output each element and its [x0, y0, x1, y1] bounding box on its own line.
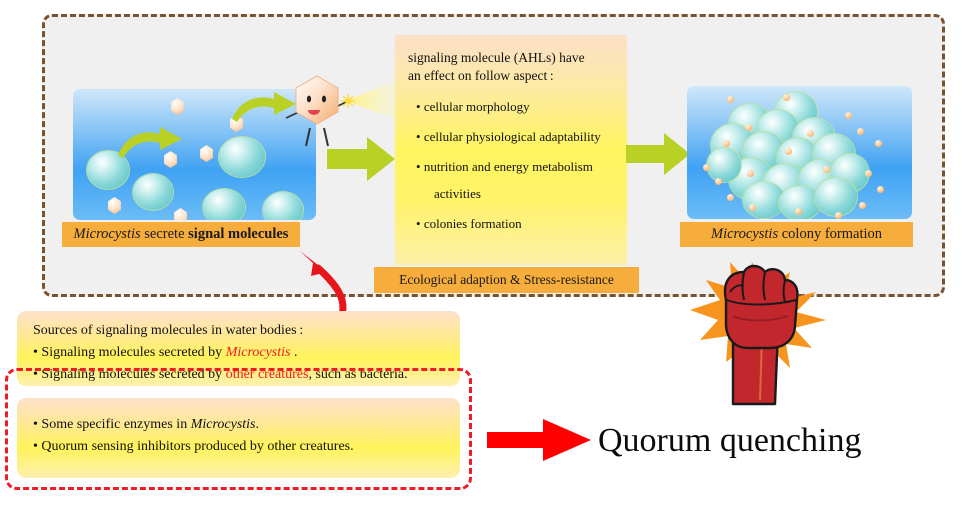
ahl-dot	[823, 166, 830, 173]
ahl-dot	[749, 204, 756, 211]
left-caption-mid: secrete	[141, 226, 189, 242]
ahl-dot	[745, 124, 752, 131]
sources-line2-suffix: .	[291, 345, 298, 360]
right-caption-rest: colony formation	[778, 226, 882, 242]
ahl-dot	[875, 140, 882, 147]
enzymes-line1-suffix: .	[256, 417, 260, 432]
ahl-effects-list: • cellular morphology • cellular physiol…	[408, 98, 614, 232]
bullet-text: colonies formation	[424, 216, 522, 231]
microcystis-cell	[203, 189, 245, 220]
right-panel-caption: Microcystis colony formation	[680, 222, 913, 247]
ahl-dot	[807, 130, 814, 137]
green-curved-arrow-right	[230, 91, 300, 125]
microcystis-colony-panel	[687, 86, 912, 219]
quorum-quenching-arrow	[487, 419, 591, 461]
ahl-heading-line2: an effect on follow aspect :	[408, 68, 554, 83]
green-arrow-to-effects	[327, 135, 397, 183]
colony-cell	[707, 148, 741, 182]
bullet-continuation: activities	[424, 185, 614, 202]
quenching-agents-box: • Some specific enzymes in Microcystis. …	[17, 398, 460, 478]
ahl-dot	[857, 128, 864, 135]
microcystis-cell	[133, 174, 173, 210]
ahl-dot	[859, 202, 866, 209]
ahl-dot	[785, 148, 792, 155]
ahl-dot	[727, 96, 734, 103]
sources-line-microcystis: • Signaling molecules secreted by Microc…	[33, 342, 444, 364]
sources-line2-highlight: Microcystis	[226, 345, 291, 360]
sources-line3-highlight: other creatures	[226, 367, 309, 382]
left-caption-italic: Microcystis	[74, 226, 141, 242]
ahl-dot	[877, 186, 884, 193]
list-item: • nutrition and energy metabolismactivit…	[416, 158, 614, 202]
enzymes-line-2: • Quorum sensing inhibitors produced by …	[33, 436, 444, 458]
list-item: • cellular physiological adaptability	[416, 128, 614, 145]
figure-canvas: Microcystis secrete signal molecules	[0, 0, 966, 530]
colony-cell	[815, 178, 857, 216]
ahl-dot	[723, 140, 730, 147]
sources-line3-suffix: , such as bacteria.	[308, 367, 407, 382]
sources-heading: Sources of signaling molecules in water …	[33, 320, 444, 342]
ahl-effects-heading: signaling molecule (AHLs) have an effect…	[408, 49, 614, 85]
signal-sources-box: Sources of signaling molecules in water …	[17, 311, 460, 386]
ahl-dot	[727, 194, 734, 201]
microcystis-cell	[263, 192, 303, 220]
green-curved-arrow-left	[116, 125, 186, 160]
ahl-dot	[747, 170, 754, 177]
bullet-text: nutrition and energy metabolism	[424, 159, 593, 174]
ahl-molecule	[199, 145, 214, 162]
bullet-text: cellular morphology	[424, 99, 530, 114]
ahl-dot	[715, 178, 722, 185]
enzymes-line1-italic: Microcystis	[191, 417, 256, 432]
ahl-dot	[783, 94, 790, 101]
list-item: • colonies formation	[416, 215, 614, 232]
left-panel-caption: Microcystis secrete signal molecules	[62, 222, 300, 247]
microcystis-cell	[219, 137, 265, 177]
ahl-dot	[835, 212, 842, 219]
right-caption-italic: Microcystis	[711, 226, 778, 242]
green-arrow-to-colony	[626, 131, 692, 177]
ecological-adaption-bar: Ecological adaption & Stress-resistance	[374, 267, 639, 293]
ahl-molecule	[107, 197, 122, 214]
ahl-dot	[795, 208, 802, 215]
left-caption-bold: signal molecules	[188, 226, 288, 242]
ahl-dot	[845, 112, 852, 119]
ahl-dot	[703, 164, 710, 171]
enzymes-line1-prefix: • Some specific enzymes in	[33, 417, 191, 432]
ahl-molecule	[170, 98, 185, 115]
sources-line3-prefix: • Signaling molecules secreted by	[33, 367, 226, 382]
ahl-dot	[865, 170, 872, 177]
ahl-heading-line1: signaling molecule (AHLs) have	[408, 50, 585, 65]
sources-line-other-creatures: • Signaling molecules secreted by other …	[33, 364, 444, 386]
list-item: • cellular morphology	[416, 98, 614, 115]
bullet-text: cellular physiological adaptability	[424, 129, 601, 144]
enzymes-line-1: • Some specific enzymes in Microcystis.	[33, 414, 444, 436]
sources-line2-prefix: • Signaling molecules secreted by	[33, 345, 226, 360]
quorum-quenching-label: Quorum quenching	[598, 421, 861, 461]
ahl-molecule	[173, 208, 188, 220]
ahl-effects-box: signaling molecule (AHLs) have an effect…	[395, 35, 627, 265]
